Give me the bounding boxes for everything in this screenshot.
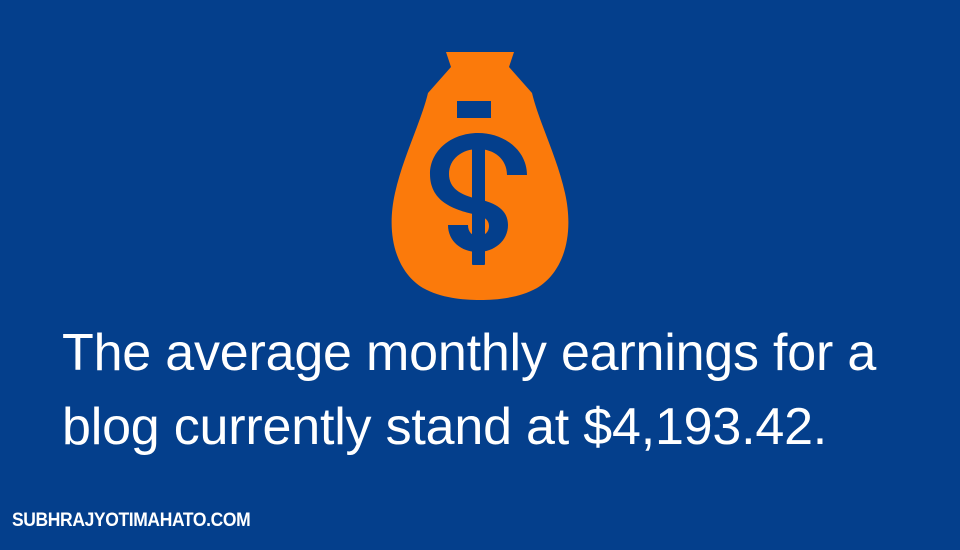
headline-line-1: The average monthly earnings for a [62,316,912,390]
icon-area [0,52,960,302]
site-watermark: SUBHRAJYOTIMAHATO.COM [12,510,250,532]
headline-line-2: blog currently stand at $4,193.42. [62,390,912,464]
page-title: The average monthly earnings for a blog … [62,316,912,464]
money-bag-tie-shape [457,101,491,118]
money-bag-icon [387,52,573,300]
quote-card: The average monthly earnings for a blog … [0,0,960,550]
